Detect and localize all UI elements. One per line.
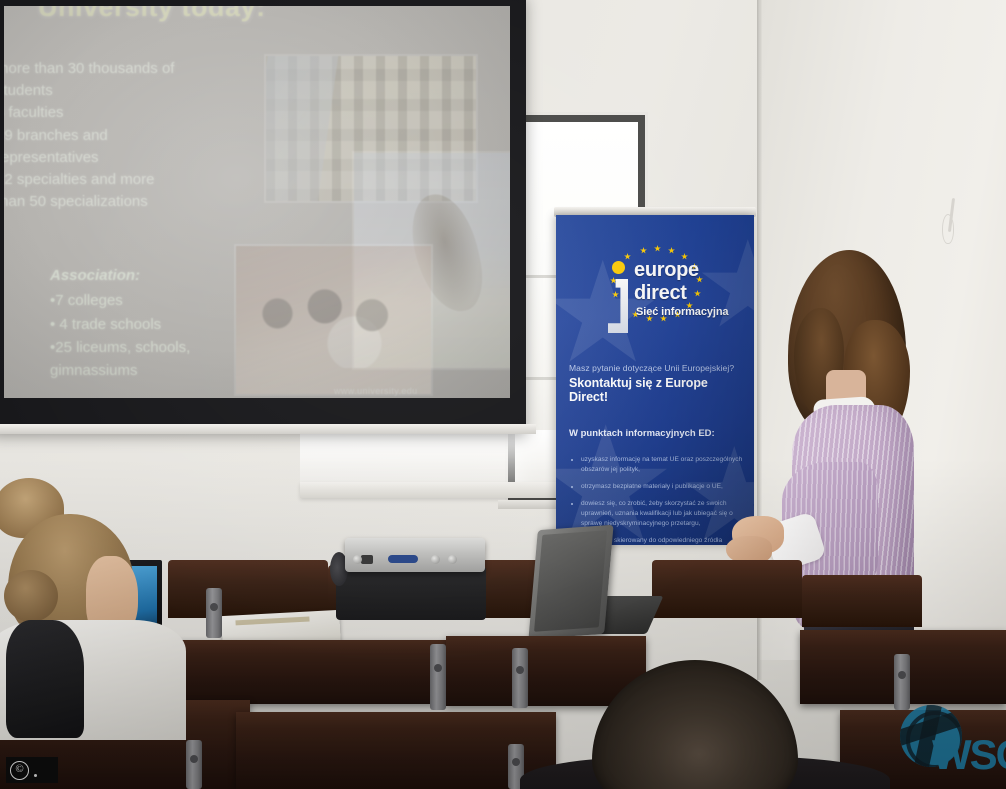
bench-back [652, 560, 802, 618]
slide-bullet-list: more than 30 thousands of students 8 fac… [4, 58, 246, 213]
projector-knob [353, 555, 362, 564]
bench-back [168, 560, 328, 618]
banner-list-item: uzyskasz informację na temat UE oraz pos… [581, 455, 747, 475]
desk-row [176, 640, 446, 704]
screen-bottom-bar [0, 424, 536, 434]
audience-member-front-scarf [6, 620, 84, 738]
seat-bracket [186, 740, 202, 789]
association-item: •25 liceums, schools, [50, 336, 280, 359]
projector-vga-port [388, 555, 418, 563]
seat-bracket [894, 654, 910, 710]
banner-logo-line2: direct [634, 282, 687, 305]
slide-bullet: 8 faculties [4, 102, 246, 124]
laptop-screen [534, 530, 607, 632]
copyright-icon: © [10, 761, 29, 780]
europe-direct-logo: europe direct Sieć informacyjna [596, 245, 736, 345]
lecture-hall-photograph: University today: more than 30 thousands… [0, 0, 1006, 789]
banner-list-item: otrzymasz bezpłatne materiały i publikac… [581, 482, 747, 492]
slide-footer-url: www.university.edu [334, 386, 418, 396]
slide-bullet: students [4, 80, 246, 102]
europe-direct-banner: ★ ★ ★ ★ europe direct Sieć informacyjna … [556, 215, 754, 545]
wall-hook-icon [941, 198, 957, 244]
wsg-watermark-text: WSG [932, 731, 1006, 779]
projector-knob [431, 555, 440, 564]
banner-cta: Skontaktuj się z Europe Direct! [569, 376, 749, 404]
banner-section-heading: W punktach informacyjnych ED: [569, 428, 749, 439]
seat-bracket [206, 588, 222, 638]
slide-title: University today: [38, 6, 266, 23]
wsg-watermark: WSG [898, 705, 998, 779]
copyright-dot [34, 774, 37, 777]
projector-base [336, 568, 486, 620]
association-item: • 4 trade schools [50, 313, 280, 336]
association-item: gimnassiums [50, 359, 280, 382]
europe-direct-dot-icon [612, 261, 625, 274]
audience-member-front-bun [4, 570, 58, 622]
slide-bullet: representatives [4, 147, 246, 169]
projector-port [361, 555, 373, 564]
slide-association-block: Association: •7 colleges • 4 trade schoo… [50, 264, 280, 382]
projector-knob [448, 555, 457, 564]
projection-screen-surface: University today: more than 30 thousands… [4, 6, 510, 398]
projector [345, 538, 485, 572]
projected-slide: University today: more than 30 thousands… [4, 6, 510, 398]
laptop [528, 525, 613, 639]
banner-logo-line1: europe [634, 259, 699, 282]
bench-back [802, 575, 922, 627]
seat-bracket [512, 648, 528, 708]
association-heading: Association: [50, 264, 280, 287]
association-item: •7 colleges [50, 289, 280, 312]
banner-logo-line3: Sieć informacyjna [636, 306, 728, 318]
slide-bullet: more than 30 thousands of [4, 58, 246, 80]
slide-bullet: 32 specialties and more [4, 169, 246, 191]
projection-screen: University today: more than 30 thousands… [0, 0, 526, 432]
slide-bullet: than 50 specializations [4, 191, 246, 213]
banner-question: Masz pytanie dotyczące Unii Europejskiej… [569, 363, 745, 373]
copyright-badge: © [6, 757, 58, 783]
seat-bracket [430, 644, 446, 710]
slide-bullet: 49 branches and [4, 125, 246, 147]
